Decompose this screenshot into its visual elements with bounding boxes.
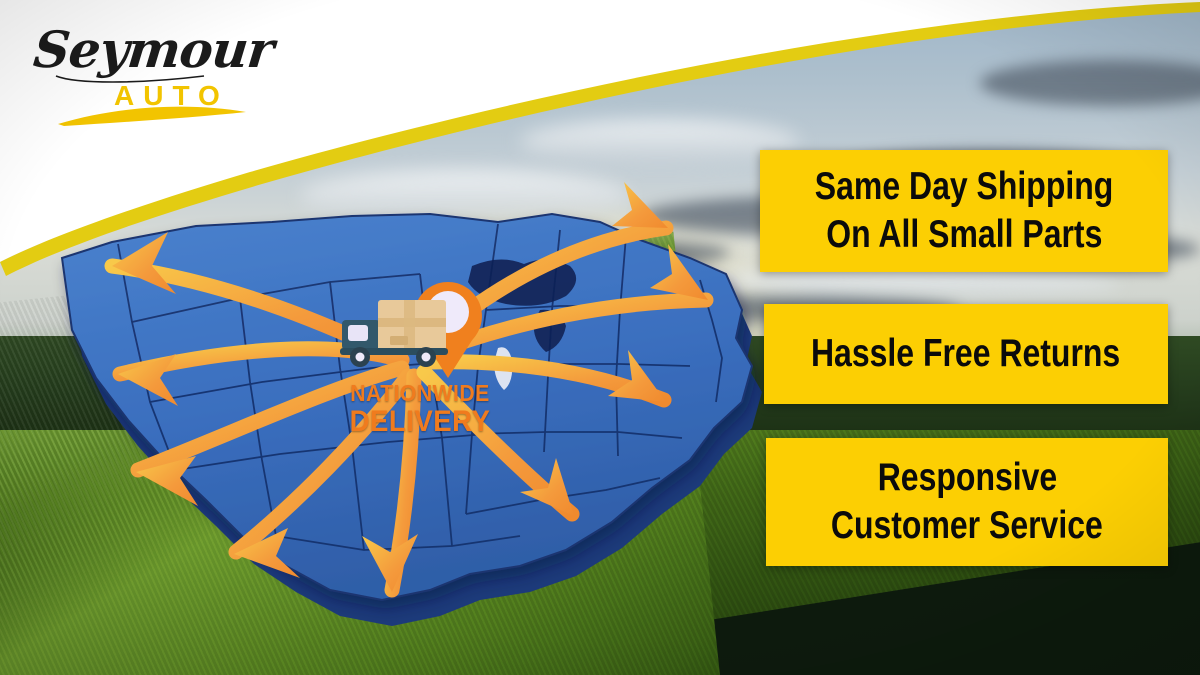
delivery-truck-icon — [340, 300, 448, 367]
callout-same-day-shipping[interactable]: Same Day Shipping On All Small Parts — [760, 150, 1168, 272]
callout-hassle-free-returns[interactable]: Hassle Free Returns — [764, 304, 1168, 404]
callout-2-line-1: Hassle Free Returns — [811, 333, 1120, 376]
callout-1-line-2: On All Small Parts — [826, 211, 1102, 259]
promo-banner: (function(){ var c = document.currentScr… — [0, 0, 1200, 675]
callout-1-line-1: Same Day Shipping — [815, 163, 1114, 211]
truck-and-pin-icons — [330, 278, 510, 388]
callout-3-line-1: Responsive — [877, 454, 1057, 502]
callout-3-line-2: Customer Service — [831, 502, 1103, 550]
badge-line-2: DELIVERY — [337, 407, 503, 437]
nationwide-delivery-badge: NATIONWIDE DELIVERY — [330, 278, 510, 458]
badge-line-1: NATIONWIDE — [337, 382, 503, 405]
badge-label: NATIONWIDE DELIVERY — [330, 382, 510, 437]
brand-logo[interactable]: Seymour AUTO — [28, 18, 258, 128]
callout-responsive-customer-service[interactable]: Responsive Customer Service — [766, 438, 1168, 566]
logo-underline-swoosh — [28, 18, 258, 128]
